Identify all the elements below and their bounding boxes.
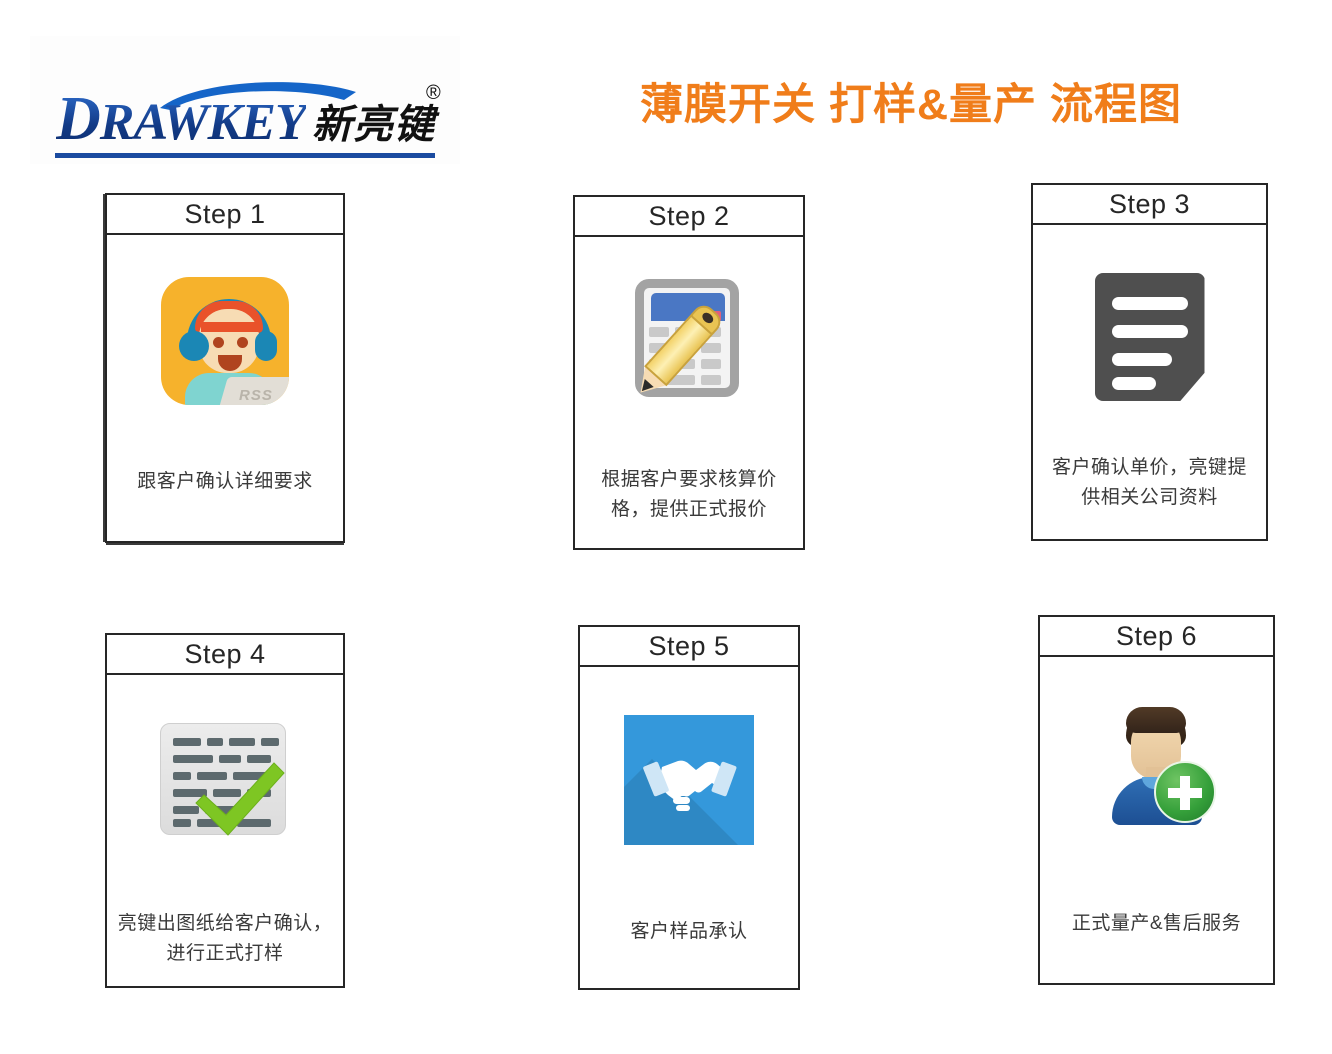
customer-support-icon: RSS	[161, 277, 289, 405]
step-title-4: Step 4	[184, 639, 265, 670]
step-caption-3: 客户确认单价，亮键提供相关公司资料	[1043, 453, 1256, 513]
step-title-6: Step 6	[1116, 621, 1197, 652]
check-mark-icon	[192, 759, 288, 837]
plus-badge-icon	[1154, 761, 1216, 823]
step-title-5: Step 5	[648, 631, 729, 662]
step-caption-5: 客户样品承认	[590, 917, 788, 947]
step-caption-6: 正式量产&售后服务	[1050, 909, 1263, 939]
step-header-1: Step 1	[107, 195, 343, 235]
step-body-2: 根据客户要求核算价格，提供正式报价	[575, 237, 803, 548]
step-card-5: Step 5	[578, 625, 800, 990]
step-card-2: Step 2	[573, 195, 805, 550]
logo-underline	[55, 153, 435, 158]
logo-wordmark-initial: D	[56, 85, 100, 153]
step-card-6: Step 6 正式量产&售后服务	[1038, 615, 1275, 985]
step-title-2: Step 2	[648, 201, 729, 232]
step-icon-3-wrap	[1033, 273, 1266, 401]
step-icon-5-wrap	[580, 715, 798, 845]
logo-chinese-name: 新亮键	[312, 92, 435, 150]
step-title-3: Step 3	[1109, 189, 1190, 220]
company-logo: DRAWKEY 新亮键 ®	[30, 36, 460, 164]
step-header-5: Step 5	[580, 627, 798, 667]
step-icon-6-wrap	[1040, 705, 1273, 825]
document-icon	[1095, 273, 1205, 401]
logo-wordmark-rest: RAWKEY	[100, 94, 306, 151]
step-header-4: Step 4	[107, 635, 343, 675]
step-header-2: Step 2	[575, 197, 803, 237]
add-user-icon	[1098, 705, 1216, 825]
page-title: 薄膜开关 打样&量产 流程图	[640, 70, 1182, 132]
step-header-3: Step 3	[1033, 185, 1266, 225]
step-body-3: 客户确认单价，亮键提供相关公司资料	[1033, 225, 1266, 539]
step-body-6: 正式量产&售后服务	[1040, 657, 1273, 983]
step-body-5: 客户样品承认	[580, 667, 798, 988]
document-approved-icon	[160, 723, 290, 841]
step-icon-4-wrap	[107, 723, 343, 841]
step-title-1: Step 1	[184, 199, 265, 230]
step-card-4: Step 4	[105, 633, 345, 988]
registered-trademark-icon: ®	[426, 82, 441, 105]
step-caption-1: 跟客户确认详细要求	[117, 467, 333, 497]
step-card-1: Step 1 RSS 跟客户确认详细要求	[105, 193, 345, 543]
step-body-4: 亮键出图纸给客户确认，进行正式打样	[107, 675, 343, 986]
step-caption-2: 根据客户要求核算价格，提供正式报价	[585, 465, 793, 525]
step-icon-1-wrap: RSS	[107, 277, 343, 405]
handshake-icon	[624, 715, 754, 845]
step-icon-2-wrap	[575, 275, 803, 403]
flowchart-page: DRAWKEY 新亮键 ® 薄膜开关 打样&量产 流程图 Step 1	[0, 0, 1332, 1054]
logo-wordmark: DRAWKEY	[56, 88, 306, 150]
calculator-pencil-icon	[629, 275, 749, 403]
step-caption-4: 亮键出图纸给客户确认，进行正式打样	[117, 909, 333, 969]
step-body-1: RSS 跟客户确认详细要求	[107, 235, 343, 541]
step-card-3: Step 3 客户确认单价，亮键提供相关公司资料	[1031, 183, 1268, 541]
step-header-6: Step 6	[1040, 617, 1273, 657]
support-icon-label: RSS	[239, 387, 273, 404]
